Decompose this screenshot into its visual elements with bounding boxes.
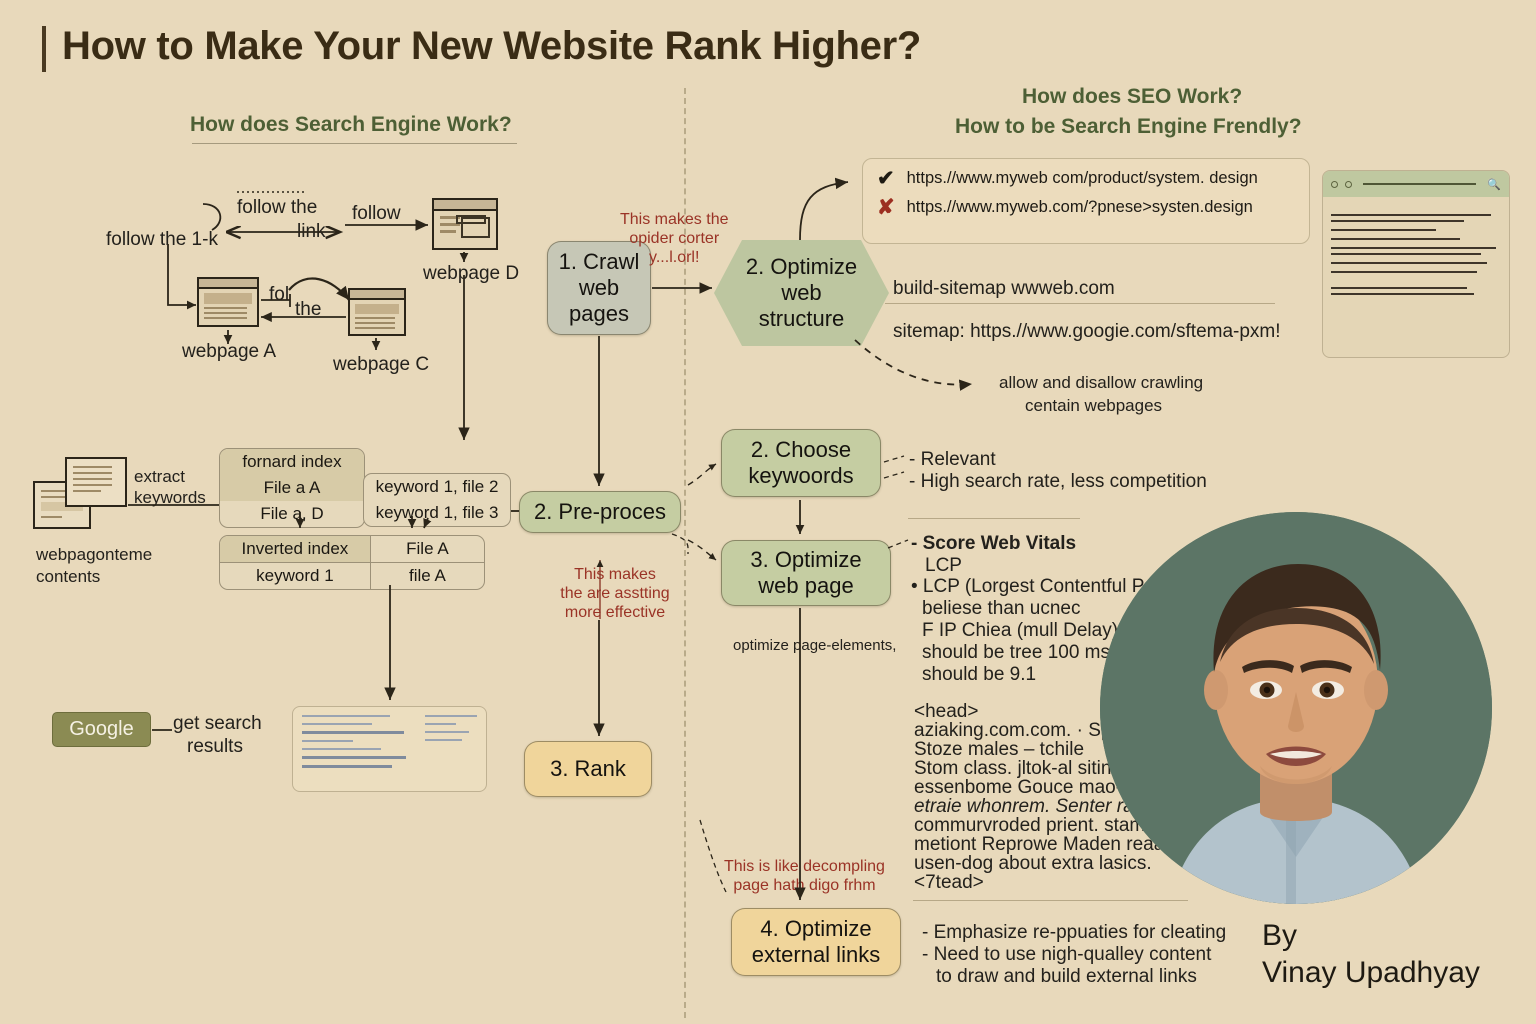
forward-index-cell-1-1: keyword 1, file 3: [364, 500, 510, 526]
sitemap-url-label: sitemap: https.//www.googie.com/sftema-p…: [893, 320, 1281, 343]
note-links-line-2: page hath digo frhm: [724, 876, 885, 895]
note-preprocess: This makes the are asstting more effecti…: [548, 565, 682, 623]
webpage-a-label: webpage A: [182, 340, 276, 363]
note-links-line-1: This is like decompling: [724, 857, 885, 876]
webpage-a-icon: [197, 277, 259, 327]
url-row-good: ✔ https.//www.myweb com/product/system. …: [863, 159, 1309, 193]
label-follow-the-link-1: follow the: [237, 196, 317, 219]
bad-url-text: https.//www.myweb.com/?pnese>systen.desi…: [907, 198, 1253, 217]
portrait-illustration: [1100, 512, 1492, 904]
table-row: fornard index: [220, 449, 364, 475]
forward-index-header: fornard index: [220, 449, 364, 475]
label-follow: follow: [352, 202, 401, 225]
page-title: How to Make Your New Website Rank Higher…: [62, 24, 921, 69]
external-link-note-1: - Need to use nigh-qualley content: [922, 943, 1211, 966]
forward-index-cell-0-0: File a A: [220, 475, 364, 501]
forward-index-cell-1-0: File a, D: [220, 501, 364, 527]
webpage-d-icon: [432, 198, 498, 250]
external-links-divider: [913, 900, 1188, 901]
inverted-index-cell-0-0: Inverted index: [220, 536, 371, 562]
vitals-note-1: LCP: [925, 554, 962, 577]
label-follow-the-link-2: link: [297, 220, 326, 243]
section-heading-underline: [192, 143, 517, 144]
node-optimize-external-links[interactable]: 4. Optimize external links: [731, 908, 901, 976]
keyword-note-1: - High search rate, less competition: [909, 470, 1207, 493]
note-crawl-line-3: y...l.orl!: [620, 248, 728, 267]
vitals-note-3: beliese than ucnec: [922, 597, 1080, 620]
author-credit: By Vinay Upadhyay: [1262, 918, 1480, 991]
credit-line-2: Vinay Upadhyay: [1262, 955, 1480, 992]
label-follow-the-1k: follow the 1-k: [106, 228, 218, 251]
node-preprocess-label: 2. Pre-proces: [534, 499, 666, 525]
note-crawl: This makes the opider corter y...l.orl!: [620, 210, 728, 268]
section-heading-friendly: How to be Search Engine Frendly?: [955, 115, 1302, 139]
table-row: keyword 1, file 2: [364, 474, 510, 500]
inverted-index-cell-0-1: File A: [371, 536, 484, 562]
good-url-text: https.//www.myweb com/product/system. de…: [907, 169, 1258, 188]
table-row: File a, D: [220, 501, 364, 527]
note-crawl-line-1: This makes the: [620, 210, 728, 229]
serp-results: [1323, 197, 1509, 310]
search-results-mockup: [292, 706, 487, 792]
credit-line-1: By: [1262, 918, 1480, 955]
note-external-links: This is like decompling page hath digo f…: [724, 857, 885, 895]
webpage-c-icon: [348, 288, 406, 336]
forward-index-table-left: fornard index File a A File a, D: [219, 448, 365, 528]
node-preprocess[interactable]: 2. Pre-proces: [519, 491, 681, 533]
keyword-note-0: - Relevant: [909, 448, 996, 471]
table-row: keyword 1, file 3: [364, 500, 510, 526]
webpage-contents-icon-front: [65, 457, 127, 507]
vitals-note-5: should be tree 100 ms: [922, 641, 1110, 664]
note-preprocess-line-2: the are asstting: [548, 584, 682, 603]
get-search-results-label-2: results: [187, 735, 243, 758]
head-code-9: <7tead>: [914, 871, 984, 894]
url-examples-panel: ✔ https.//www.myweb com/product/system. …: [862, 158, 1310, 244]
serp-mockup-window: 🔍: [1322, 170, 1510, 358]
sitemap-divider: [885, 303, 1275, 304]
node-choose-keywords-label: 2. Choose keywoords: [748, 437, 853, 489]
extract-keywords-label-2: keywords: [134, 488, 206, 509]
webpage-c-label: webpage C: [333, 353, 429, 376]
node-rank-label: 3. Rank: [550, 756, 626, 782]
vitals-note-4: F IP Chiea (mull Delay): [922, 619, 1118, 642]
node-optimize-links-label: 4. Optimize external links: [752, 916, 880, 968]
extract-keywords-label-1: extract: [134, 467, 185, 488]
serp-search-bar[interactable]: [1363, 183, 1476, 185]
webpage-contents-label-2: contents: [36, 567, 100, 588]
vitals-note-0: - Score Web Vitals: [911, 532, 1076, 555]
cross-icon: ✘: [877, 197, 895, 218]
table-row: keyword 1 file A: [220, 562, 484, 589]
table-row: Inverted index File A: [220, 536, 484, 562]
robots-label-1: allow and disallow crawling: [999, 373, 1203, 394]
node-optimize-page-label: 3. Optimize web page: [750, 547, 861, 599]
google-logo-chip[interactable]: Google: [52, 712, 151, 747]
title-accent-bar: [42, 26, 46, 72]
note-preprocess-line-1: This makes: [548, 565, 682, 584]
note-preprocess-line-3: more effective: [548, 603, 682, 622]
section-heading-search-engine: How does Search Engine Work?: [190, 113, 512, 137]
node-rank[interactable]: 3. Rank: [524, 741, 652, 797]
webpage-contents-label-1: webpagonteme: [36, 545, 152, 566]
inverted-index-cell-1-1: file A: [371, 562, 484, 589]
window-dot-2: [1345, 181, 1352, 188]
forward-index-table-right: keyword 1, file 2 keyword 1, file 3: [363, 473, 511, 527]
node-optimize-web-structure[interactable]: 2. Optimize web structure: [714, 240, 889, 346]
url-row-bad: ✘ https.//www.myweb.com/?pnese>systen.de…: [863, 193, 1309, 222]
node-choose-keywords[interactable]: 2. Choose keywoords: [721, 429, 881, 497]
vitals-note-6: should be 9.1: [922, 663, 1036, 686]
inverted-index-cell-1-0: keyword 1: [220, 562, 371, 589]
section-heading-seo: How does SEO Work?: [1022, 85, 1242, 109]
optimize-page-elements-label: optimize page-elements,: [733, 637, 896, 655]
robots-label-2: centain webpages: [1025, 396, 1162, 417]
node-optimize-structure-label: 2. Optimize web structure: [746, 254, 857, 332]
vitals-divider: [908, 518, 1080, 519]
author-portrait: [1100, 512, 1492, 904]
webpage-d-label: webpage D: [423, 262, 519, 285]
label-fol: fol: [269, 283, 289, 306]
forward-index-cell-0-1: keyword 1, file 2: [364, 474, 510, 500]
node-optimize-web-page[interactable]: 3. Optimize web page: [721, 540, 891, 606]
window-dot-1: [1331, 181, 1338, 188]
check-icon: ✔: [877, 168, 895, 189]
build-sitemap-label: build-sitemap wwweb.com: [893, 277, 1115, 300]
get-search-results-label-1: get search: [173, 712, 262, 735]
note-crawl-line-2: opider corter: [620, 229, 728, 248]
search-icon: 🔍: [1487, 178, 1501, 191]
serp-topbar: 🔍: [1323, 171, 1509, 197]
external-link-note-2: to draw and build external links: [936, 965, 1197, 988]
label-the: the: [295, 298, 321, 321]
table-row: File a A: [220, 475, 364, 501]
infographic-canvas: How to Make Your New Website Rank Higher…: [0, 0, 1536, 1024]
inverted-index-table: Inverted index File A keyword 1 file A: [219, 535, 485, 590]
external-link-note-0: - Emphasize re-ppuaties for cleating: [922, 921, 1226, 944]
